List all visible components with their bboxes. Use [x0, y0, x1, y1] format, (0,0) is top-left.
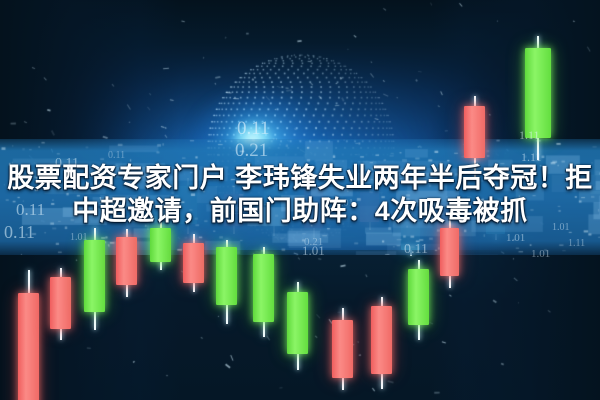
candle-body [216, 247, 237, 305]
candlestick [18, 270, 39, 400]
candle-body [440, 228, 459, 276]
candle-body [525, 48, 551, 138]
candlestick [253, 247, 274, 337]
news-thumbnail-image: 0.110.210.111.010.110.111.011.011.010.11… [0, 0, 600, 400]
candlestick [50, 268, 71, 340]
candlestick [332, 308, 353, 390]
candle-body [332, 320, 353, 378]
candle-body [116, 237, 137, 285]
candle-body [464, 106, 485, 158]
candlestick [464, 96, 485, 178]
candlestick [408, 260, 429, 340]
candle-body [408, 269, 429, 325]
candle-body [183, 243, 204, 283]
candle-body [50, 277, 71, 329]
candlestick [183, 234, 204, 292]
candlestick [216, 240, 237, 324]
candle-body [253, 254, 274, 322]
candlestick [287, 282, 308, 370]
candle-body [371, 306, 392, 374]
candle-body [84, 240, 105, 312]
candlestick [84, 228, 105, 330]
candlestick [150, 222, 171, 270]
candle-body [150, 228, 171, 262]
candle-body [287, 292, 308, 354]
candlestick [116, 229, 137, 297]
candle-body [18, 293, 39, 400]
candlestick [371, 297, 392, 389]
candlestick [440, 220, 459, 288]
candlestick [525, 36, 551, 160]
